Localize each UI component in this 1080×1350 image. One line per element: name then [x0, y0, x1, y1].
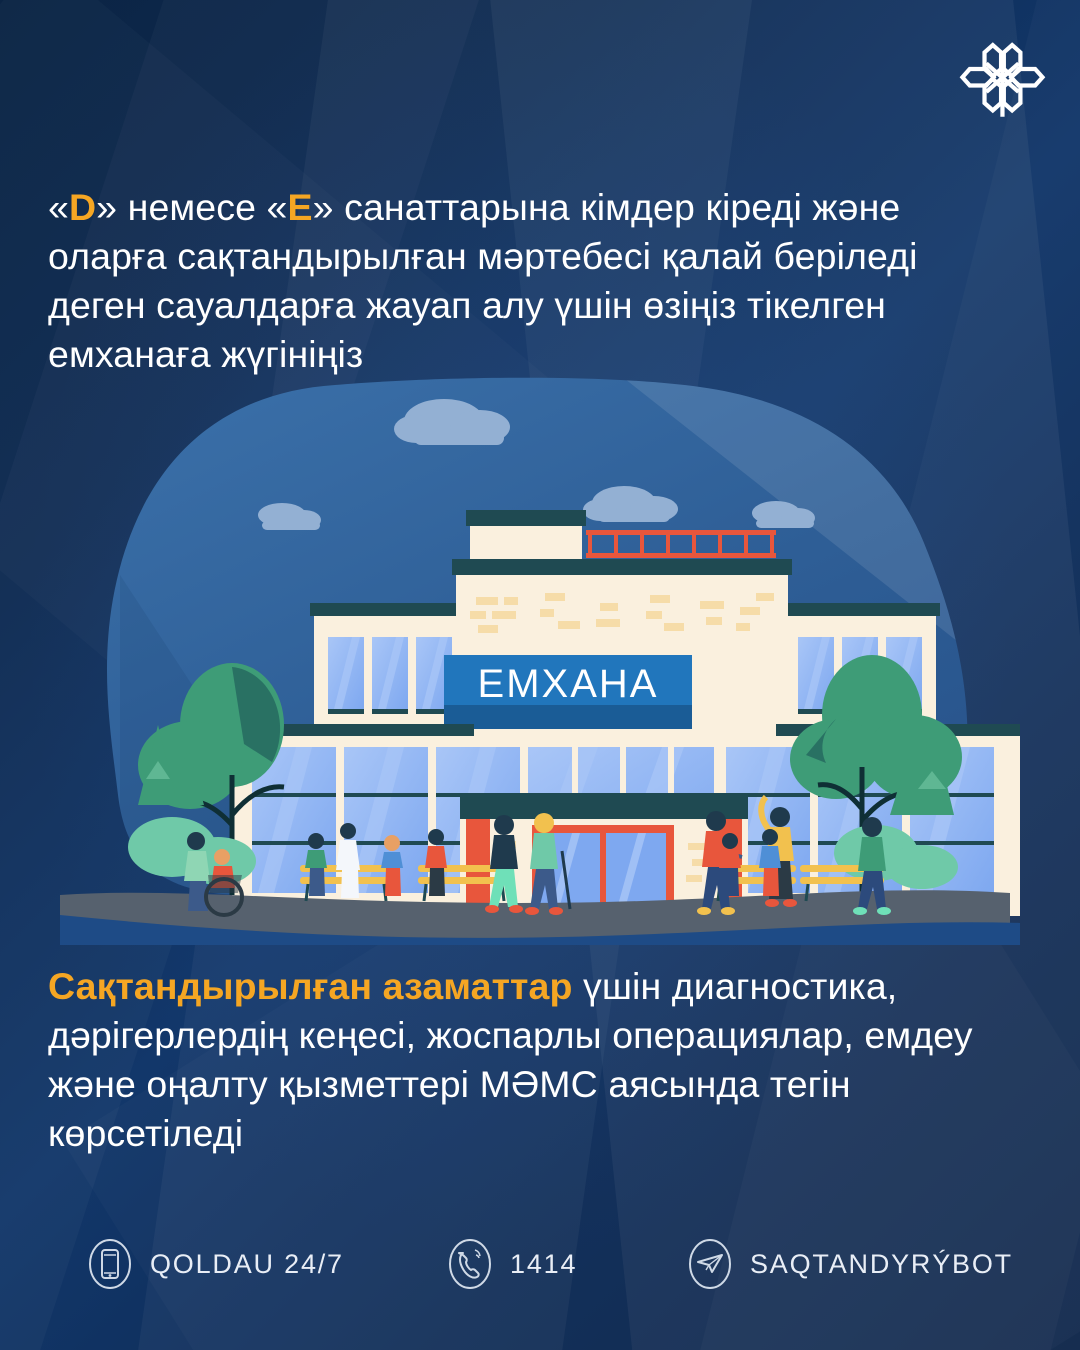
phone-call-icon [448, 1238, 492, 1290]
mobile-phone-icon [88, 1238, 132, 1290]
headline-middle: » немесе « [96, 186, 287, 228]
footer-label-hotline: 1414 [510, 1249, 577, 1280]
poster-canvas: «D» немесе «E» санаттарына кімдер кіреді… [0, 0, 1080, 1350]
building-sign-label: ЕМХАНА [478, 662, 659, 706]
footer-item-qoldau[interactable]: QOLDAU 24/7 [88, 1238, 344, 1290]
footer-item-telegram-bot[interactable]: SAQTANDYRÝBOT [688, 1238, 1013, 1290]
body-paragraph: Сақтандырылған азаматтар үшін диагностик… [48, 962, 1033, 1158]
footer-label-qoldau: QOLDAU 24/7 [150, 1249, 344, 1280]
telegram-paper-plane-icon [688, 1238, 732, 1290]
headline-text: «D» немесе «E» санаттарына кімдер кіреді… [48, 183, 1008, 379]
window [328, 637, 452, 714]
headline-category-d: D [69, 186, 96, 228]
polyclinic-illustration: ЕМХАНА [0, 375, 1080, 945]
paragraph-highlight: Сақтандырылған азаматтар [48, 965, 572, 1007]
footer-item-hotline[interactable]: 1414 [448, 1238, 577, 1290]
footer-label-telegram-bot: SAQTANDYRÝBOT [750, 1249, 1013, 1280]
samruk-hexagon-ornament-logo-icon [956, 34, 1048, 126]
building-sign: ЕМХАНА [444, 655, 692, 729]
footer-bar: QOLDAU 24/7 1414 [0, 1200, 1080, 1350]
headline-category-e: E [288, 186, 313, 228]
headline-quote-open: « [48, 186, 69, 228]
